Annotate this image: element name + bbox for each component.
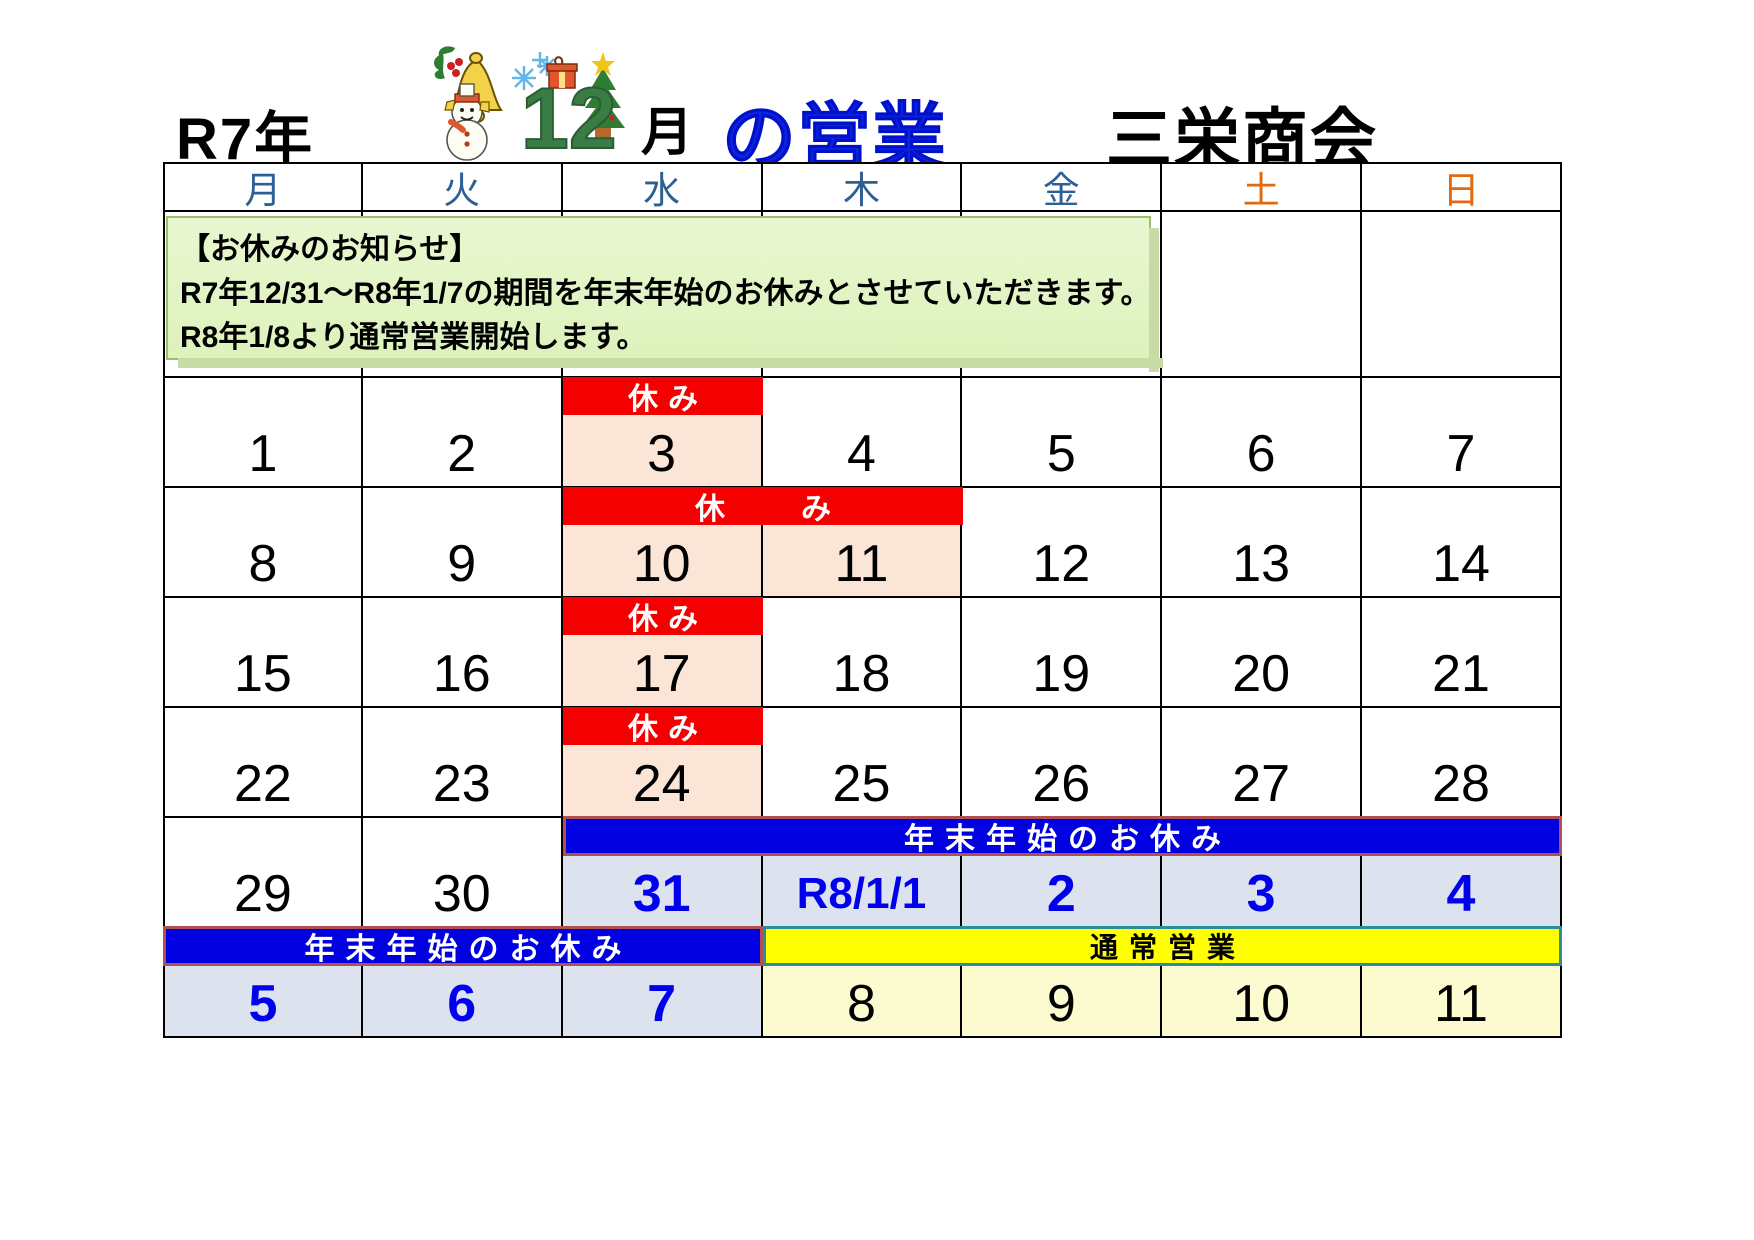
- day-cell: 9: [363, 488, 563, 598]
- day-number: 6: [1247, 426, 1276, 482]
- notice-cell-7: [1362, 212, 1562, 378]
- day-number: 2: [447, 426, 476, 482]
- weekday-header-wed: 水: [563, 162, 763, 212]
- week-row-2: 8 9 10 11 12 13 14 休み: [163, 488, 1562, 598]
- day-cell: 7: [1362, 378, 1562, 488]
- holiday-notice-callout: 【お休みのお知らせ】 R7年12/31～R8年1/7の期間を年末年始のお休みとさ…: [166, 216, 1151, 360]
- day-cell: 2: [363, 378, 563, 488]
- weekday-header-mon: 月: [163, 162, 363, 212]
- notice-cell-6: [1162, 212, 1362, 378]
- day-cell: 5: [962, 378, 1162, 488]
- day-number: 8: [248, 536, 277, 592]
- day-number: 23: [433, 756, 491, 812]
- day-cell: 30: [363, 818, 563, 928]
- holiday-banner-dec3: 休み: [563, 377, 763, 415]
- day-number: 25: [833, 756, 891, 812]
- day-number: 6: [447, 976, 476, 1032]
- day-number: 4: [1447, 866, 1476, 922]
- month-kanji: 月: [641, 104, 693, 162]
- day-number: 10: [633, 536, 691, 592]
- day-number: 30: [433, 866, 491, 922]
- page-header: R7年: [0, 34, 1754, 154]
- day-number: 10: [1232, 976, 1290, 1032]
- day-cell: 4: [763, 378, 963, 488]
- year-end-banner-week6: 年末年始のお休み: [163, 926, 763, 966]
- day-number: 28: [1432, 756, 1490, 812]
- notice-line-2: R8年1/8より通常営業開始します。: [180, 316, 1149, 360]
- day-cell: 29: [163, 818, 363, 928]
- notice-title: 【お休みのお知らせ】: [180, 228, 1149, 272]
- day-number: 19: [1032, 646, 1090, 702]
- day-number: 3: [1247, 866, 1276, 922]
- day-cell: 19: [962, 598, 1162, 708]
- weekday-header-thu: 木: [763, 162, 963, 212]
- day-number: 12: [1032, 536, 1090, 592]
- day-cell: 6: [1162, 378, 1362, 488]
- weekday-header-tue: 火: [363, 162, 563, 212]
- day-number: 9: [447, 536, 476, 592]
- day-number: 17: [633, 646, 691, 702]
- day-number: 7: [647, 976, 676, 1032]
- day-cell: 18: [763, 598, 963, 708]
- day-cell: 26: [962, 708, 1162, 818]
- day-number: 24: [633, 756, 691, 812]
- notice-line-1: R7年12/31～R8年1/7の期間を年末年始のお休みとさせていただきます。: [180, 272, 1149, 316]
- day-cell: 14: [1362, 488, 1562, 598]
- weekday-header-row: 月 火 水 木 金 土 日: [163, 162, 1562, 212]
- day-cell: 27: [1162, 708, 1362, 818]
- day-cell: 20: [1162, 598, 1362, 708]
- year-end-banner-week5: 年末年始のお休み: [563, 816, 1562, 856]
- day-number: 21: [1432, 646, 1490, 702]
- day-number: 14: [1432, 536, 1490, 592]
- day-number: 18: [833, 646, 891, 702]
- day-number: 20: [1232, 646, 1290, 702]
- day-number: 5: [248, 976, 277, 1032]
- day-cell: 28: [1362, 708, 1562, 818]
- week-row-5: 29 30 31 R8/1/1 2 3 4 年末年始のお休み: [163, 818, 1562, 928]
- day-number: 27: [1232, 756, 1290, 812]
- day-cell: 15: [163, 598, 363, 708]
- day-number: 2: [1047, 866, 1076, 922]
- day-cell: 12: [962, 488, 1162, 598]
- day-number: 13: [1232, 536, 1290, 592]
- holiday-banner-dec17: 休み: [563, 597, 763, 635]
- day-number: 22: [234, 756, 292, 812]
- day-number: 7: [1447, 426, 1476, 482]
- day-number: 15: [234, 646, 292, 702]
- day-number: 9: [1047, 976, 1076, 1032]
- holiday-banner-dec10-11: 休み: [563, 487, 963, 525]
- day-number: 29: [234, 866, 292, 922]
- day-number: 11: [1434, 976, 1488, 1032]
- week-row-4: 22 23 24 25 26 27 28 休み: [163, 708, 1562, 818]
- day-cell: 22: [163, 708, 363, 818]
- week-row-6: 5 6 7 8 9 10 11 年末年始のお休み 通常営業: [163, 928, 1562, 1038]
- day-number: 16: [433, 646, 491, 702]
- day-cell: 8: [163, 488, 363, 598]
- month-number: 12: [521, 71, 617, 162]
- day-number: 4: [847, 426, 876, 482]
- notice-shadow-right: [1149, 228, 1159, 372]
- weekday-header-fri: 金: [962, 162, 1162, 212]
- december-clipart-title: 12 月: [425, 40, 713, 162]
- day-number: 5: [1047, 426, 1076, 482]
- weekday-header-sun: 日: [1362, 162, 1562, 212]
- day-cell: 21: [1362, 598, 1562, 708]
- day-number: 8: [847, 976, 876, 1032]
- day-number: 26: [1032, 756, 1090, 812]
- week-row-1: 1 2 3 4 5 6 7 休み: [163, 378, 1562, 488]
- normal-business-banner: 通常営業: [763, 926, 1562, 966]
- day-number: 11: [834, 536, 888, 592]
- day-number: 1: [248, 426, 277, 482]
- day-number: 3: [647, 426, 676, 482]
- holiday-banner-dec24: 休み: [563, 707, 763, 745]
- day-cell: 16: [363, 598, 563, 708]
- weekday-header-sat: 土: [1162, 162, 1362, 212]
- day-cell: 25: [763, 708, 963, 818]
- day-number: 31: [633, 866, 691, 922]
- day-number: R8/1/1: [797, 866, 927, 922]
- day-cell: 1: [163, 378, 363, 488]
- week-row-3: 15 16 17 18 19 20 21 休み: [163, 598, 1562, 708]
- day-cell: 23: [363, 708, 563, 818]
- day-cell: 13: [1162, 488, 1362, 598]
